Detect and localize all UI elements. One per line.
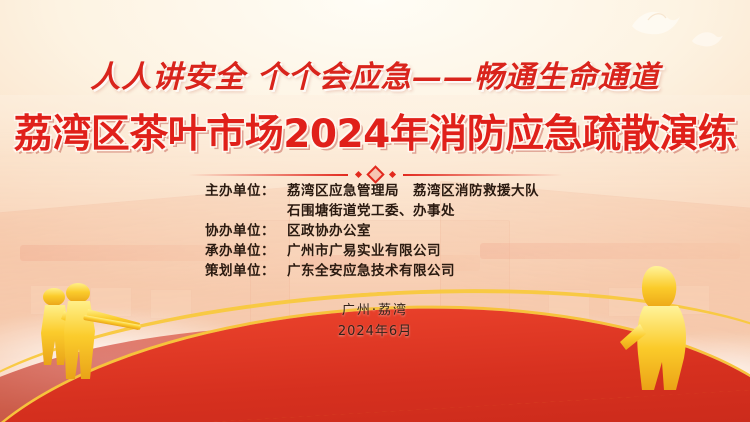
credit-row-planner: 策划单位： 广东全安应急技术有限公司 bbox=[0, 261, 750, 281]
credit-value: 石围塘街道党工委、办事处 bbox=[287, 201, 455, 221]
credit-value: 广东全安应急技术有限公司 bbox=[287, 261, 455, 281]
page-title: 荔湾区茶叶市场2024年消防应急疏散演练 bbox=[0, 103, 750, 159]
divider-line-right bbox=[403, 174, 563, 176]
divider-ornament bbox=[0, 168, 750, 181]
credit-row-host: 主办单位： 荔湾区应急管理局 荔湾区消防救援大队 bbox=[0, 181, 750, 201]
credit-row-host-cont: 石围塘街道党工委、办事处 bbox=[0, 201, 750, 221]
credit-label: 主办单位： bbox=[205, 181, 287, 201]
credit-label: 策划单位： bbox=[205, 261, 287, 281]
credit-label: 承办单位： bbox=[205, 241, 287, 261]
poster-slogan: 人人讲安全 个个会应急——畅通生命通道 bbox=[0, 52, 750, 96]
credit-value: 荔湾区应急管理局 荔湾区消防救援大队 bbox=[287, 181, 539, 201]
credit-label: 协办单位： bbox=[205, 221, 287, 241]
poster-canvas: 人人讲安全 个个会应急——畅通生命通道 荔湾区茶叶市场2024年消防应急疏散演练… bbox=[0, 0, 750, 422]
divider-line-left bbox=[188, 174, 348, 176]
credit-row-cohost: 协办单位： 区政协办公室 bbox=[0, 221, 750, 241]
credit-row-organizer: 承办单位： 广州市广易实业有限公司 bbox=[0, 241, 750, 261]
place-text: 广州·荔湾 bbox=[0, 300, 750, 321]
credit-value: 区政协办公室 bbox=[287, 221, 371, 241]
divider-dot bbox=[388, 171, 395, 178]
divider-dot bbox=[354, 171, 361, 178]
place-date-block: 广州·荔湾 2024年6月 bbox=[0, 300, 750, 342]
credit-value: 广州市广易实业有限公司 bbox=[287, 241, 441, 261]
credits-block: 主办单位： 荔湾区应急管理局 荔湾区消防救援大队 石围塘街道党工委、办事处 协办… bbox=[0, 181, 750, 281]
date-text: 2024年6月 bbox=[0, 321, 750, 342]
